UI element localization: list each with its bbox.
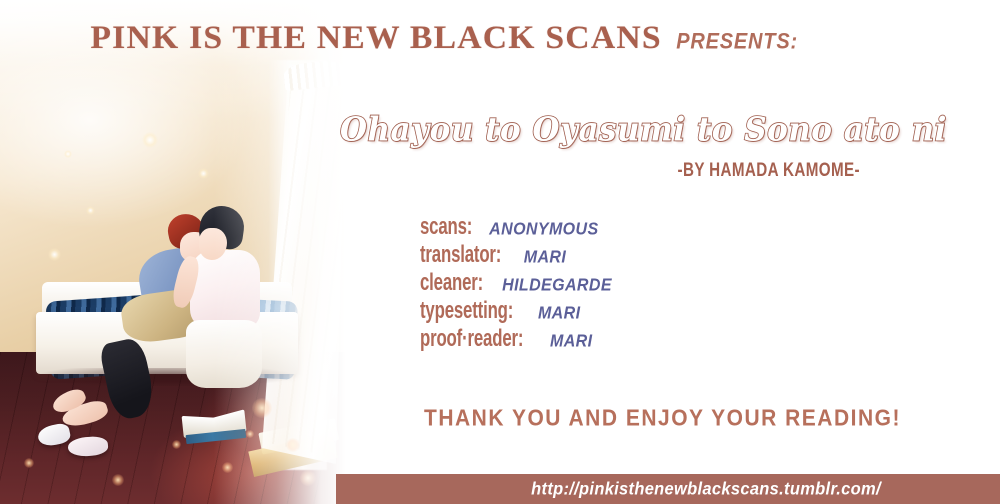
credit-label: proof·reader: xyxy=(420,325,523,353)
cover-illustration xyxy=(0,0,345,504)
credit-row-proofreader: proof·reader: MARI xyxy=(420,330,612,358)
studio-name: PINK IS THE NEW BLACK SCANS xyxy=(90,20,661,57)
release-credits-page: PINK IS THE NEW BLACK SCANS PRESENTS: Oh… xyxy=(0,0,1000,504)
credit-value: HILDEGARDE xyxy=(502,276,612,296)
presents-label: PRESENTS: xyxy=(676,30,798,56)
credit-value: MARI xyxy=(538,304,580,324)
credit-value: MARI xyxy=(524,248,566,268)
thank-you-message: THANK YOU AND ENJOY YOUR READING! xyxy=(424,406,901,432)
site-url-link[interactable]: http://pinkisthenewblackscans.tumblr.com… xyxy=(531,479,881,500)
credits-list: scans: ANONYMOUS translator: MARI cleane… xyxy=(420,218,612,358)
credit-value: MARI xyxy=(550,332,592,352)
credit-label: scans: xyxy=(420,213,472,241)
credit-label: typesetting: xyxy=(420,297,513,325)
url-bar: http://pinkisthenewblackscans.tumblr.com… xyxy=(336,474,1000,504)
author-byline: -BY HAMADA KAMOME- xyxy=(366,160,860,182)
page-title: Ohayou to Oyasumi to Sono ato ni xyxy=(340,111,960,149)
studio-header: PINK IS THE NEW BLACK SCANS PRESENTS: xyxy=(96,20,926,64)
credit-value: ANONYMOUS xyxy=(489,220,598,240)
credit-label: cleaner: xyxy=(420,269,483,297)
credit-label: translator: xyxy=(420,241,501,269)
